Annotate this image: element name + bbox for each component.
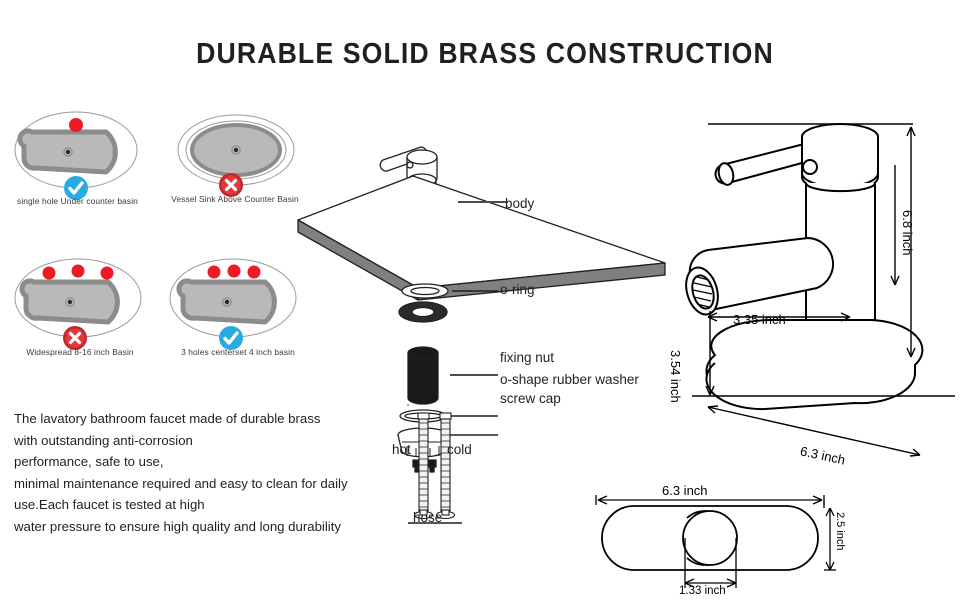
product-diagram: DURABLE SOLID BRASS CONSTRUCTION (0, 0, 970, 600)
fixing-nut-part (408, 347, 438, 404)
basin-options-graphic (0, 100, 320, 370)
part-label-body: body (505, 196, 534, 211)
dimension-spout-reach: 3.35 inch (733, 312, 786, 327)
o-ring-part (402, 284, 448, 298)
mounting-hole (399, 302, 447, 322)
hole-dot (69, 118, 83, 132)
basin-option-4 (170, 259, 296, 350)
faucet-dimension-graphic (660, 105, 970, 485)
dimension-hole-diameter: 1.33 inch (679, 585, 726, 597)
part-label-rubber-washer: o-shape rubber washer (500, 372, 639, 387)
basin-option-1 (15, 112, 137, 200)
dimension-spout-height: 3.54 inch (668, 350, 683, 403)
basin-caption-1: single hole Under counter basin (0, 196, 155, 206)
hose-label-cold: cold (447, 442, 472, 457)
part-label-screw-cap: screw cap (500, 391, 561, 406)
basin-option-3 (15, 259, 141, 350)
basin-caption-3: Widespread 8-16 inch Basin (0, 347, 160, 357)
dimension-height: 6.8 inch (900, 210, 915, 256)
dimension-plate-depth: 2.5 inch (834, 512, 846, 551)
part-label-fixing-nut: fixing nut (500, 350, 554, 365)
part-label-o-ring: o-ring (500, 282, 535, 297)
hose-label-hot: hot (392, 442, 411, 457)
hose-label: hose (413, 510, 442, 525)
dimension-plate-width: 6.3 inch (662, 483, 708, 498)
page-title: DURABLE SOLID BRASS CONSTRUCTION (39, 38, 931, 71)
countertop-slab (298, 174, 665, 304)
basin-option-2 (178, 115, 294, 197)
